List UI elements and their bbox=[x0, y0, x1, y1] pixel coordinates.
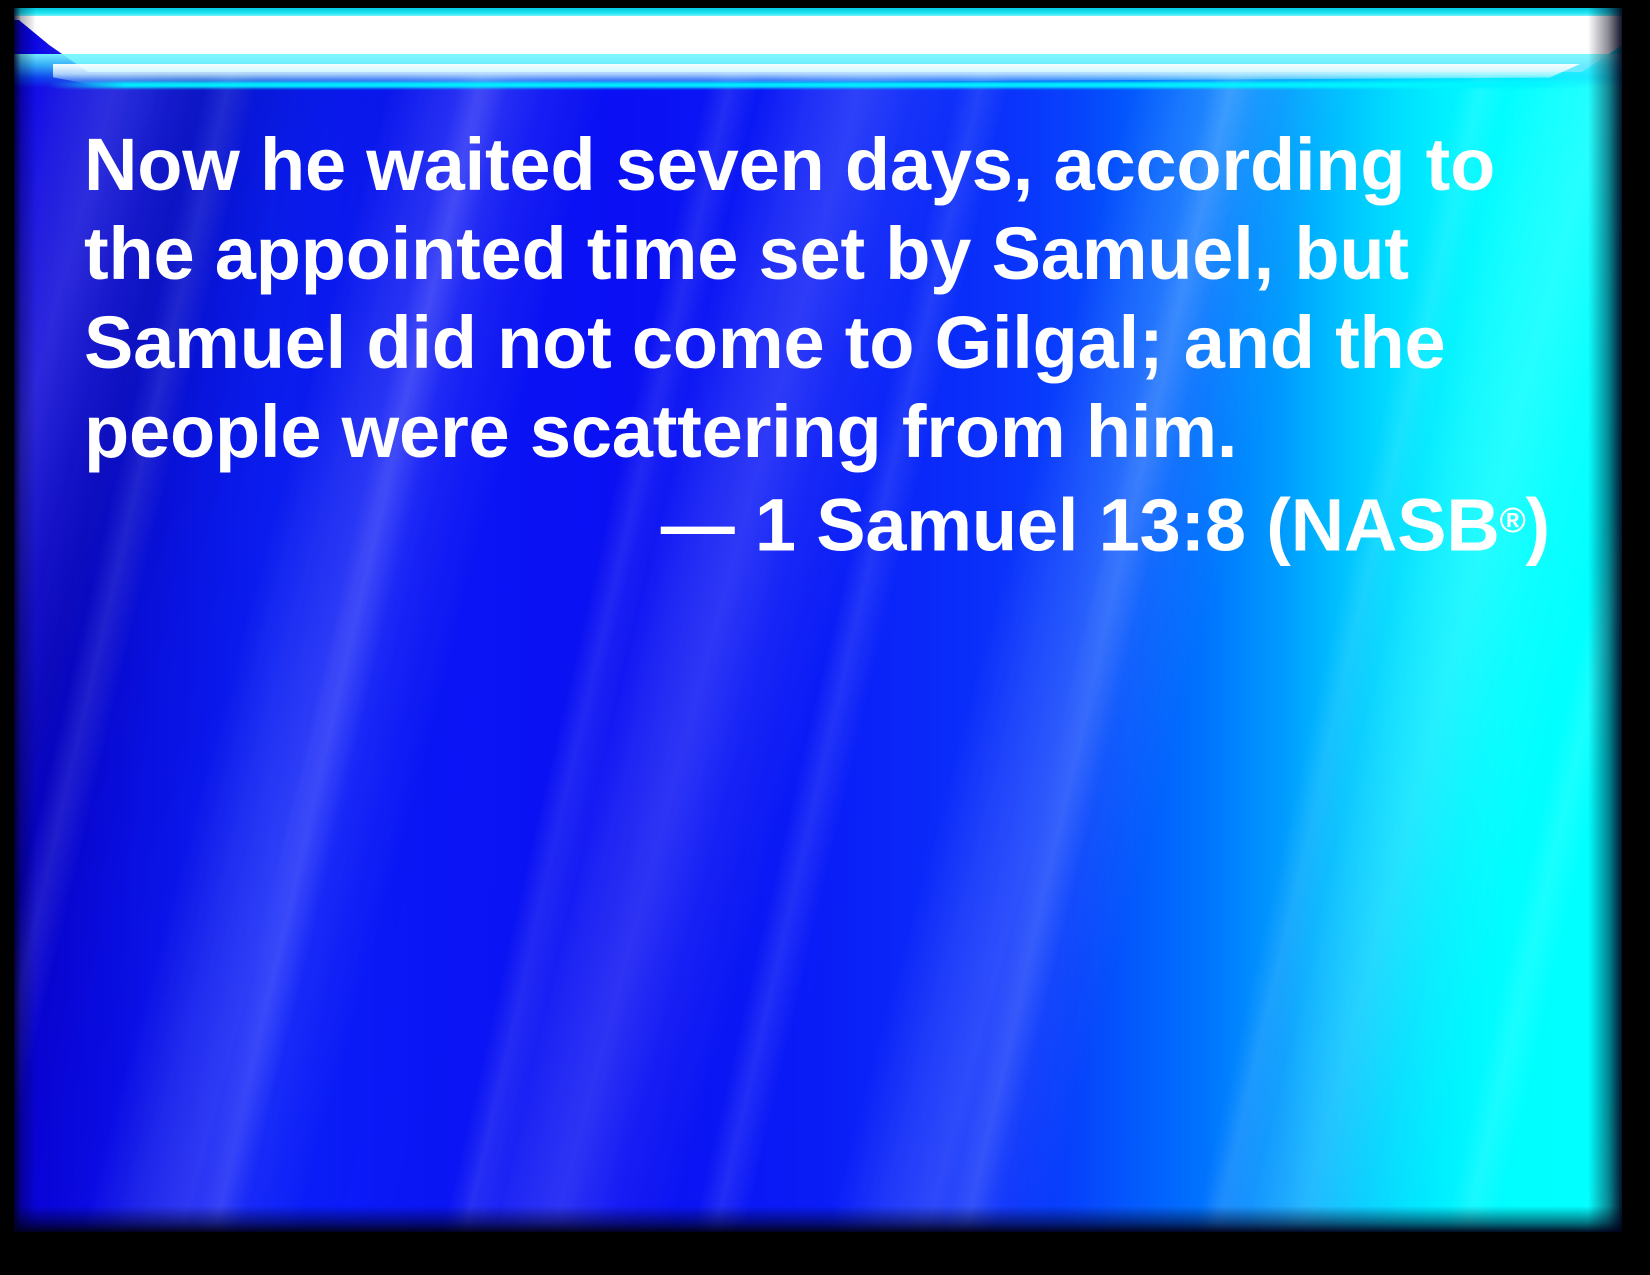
verse-text-block: Now he waited seven days, according to t… bbox=[84, 120, 1554, 569]
attribution-reference: 1 Samuel 13:8 (NASB bbox=[735, 483, 1500, 566]
verse-line-1: Now he waited seven days, according to bbox=[84, 120, 1554, 209]
verse-line-2: the appointed time set by Samuel, but bbox=[84, 209, 1554, 298]
attribution-close-paren: ) bbox=[1526, 483, 1550, 566]
attribution-dash: — bbox=[661, 483, 735, 566]
verse-line-3: Samuel did not come to Gilgal; and the bbox=[84, 298, 1554, 387]
verse-slide: Now he waited seven days, according to t… bbox=[0, 0, 1650, 1275]
registered-trademark-icon: ® bbox=[1500, 500, 1526, 540]
verse-line-4: people were scattering from him. bbox=[84, 387, 1554, 476]
slide-picture-area: Now he waited seven days, according to t… bbox=[14, 8, 1622, 1232]
verse-attribution: — 1 Samuel 13:8 (NASB®) bbox=[84, 476, 1554, 569]
